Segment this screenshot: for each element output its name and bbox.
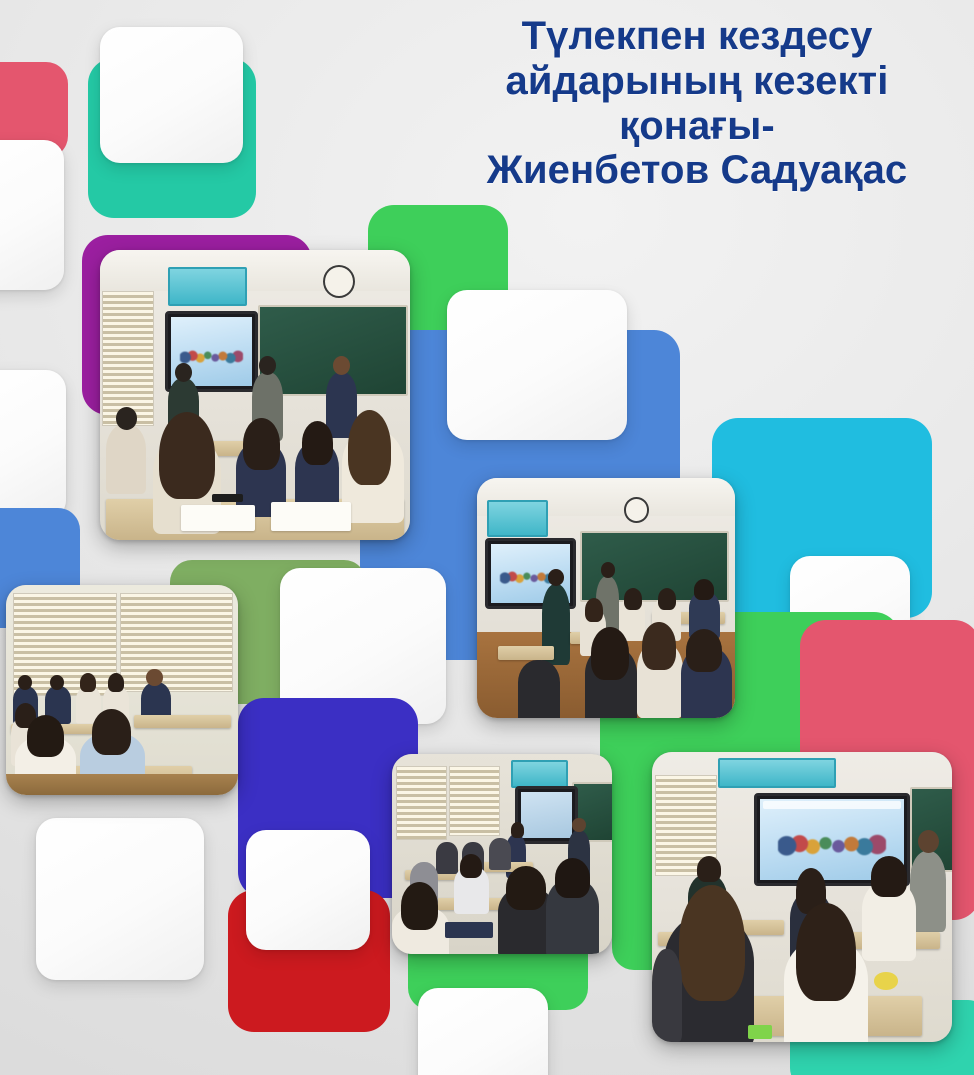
photo-teacher-at-screen xyxy=(477,478,735,718)
card-left-upper xyxy=(0,140,64,290)
card-bottom-mid xyxy=(418,988,548,1075)
photo-students-by-window xyxy=(6,585,238,795)
card-top-left xyxy=(100,27,243,163)
card-lower-mid xyxy=(246,830,370,950)
photo-classroom-presenters xyxy=(100,250,410,540)
title-line-4: Жиенбетов Садуақас xyxy=(430,148,964,193)
photo-back-of-classroom xyxy=(392,754,612,954)
page-title: Түлекпен кездесу айдарының кезекті қонағ… xyxy=(430,14,964,193)
card-left-mid xyxy=(0,370,66,520)
card-lower-left xyxy=(36,818,204,980)
poster-canvas: Түлекпен кездесу айдарының кезекті қонағ… xyxy=(0,0,974,1075)
photo-guest-speaker xyxy=(652,752,952,1042)
card-center-upper xyxy=(447,290,627,440)
title-line-2: айдарының кезекті xyxy=(430,59,964,104)
title-line-3: қонағы- xyxy=(430,104,964,149)
title-line-1: Түлекпен кездесу xyxy=(430,14,964,59)
